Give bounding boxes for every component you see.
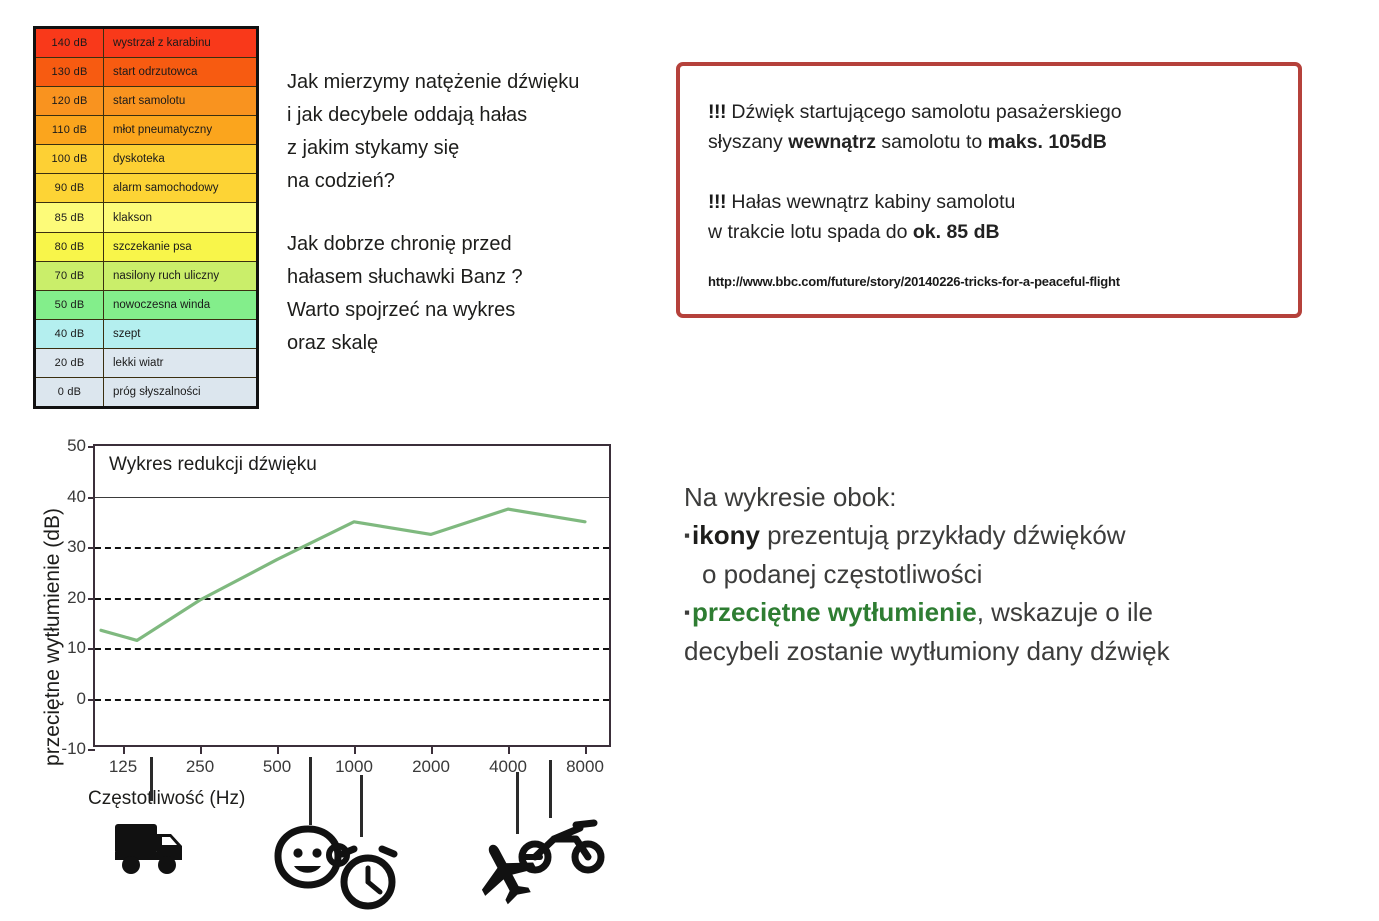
y-tick-mark <box>88 497 95 499</box>
info-block1-line1: !!! Dźwięk startującego samolotu pasażer… <box>708 97 1298 127</box>
info-bold-wewnatrz: wewnątrz <box>788 131 876 153</box>
info-text: samolotu to <box>876 131 988 153</box>
db-table-row: 140 dBwystrzał z karabinu <box>36 29 256 58</box>
y-tick-label: 0 <box>77 689 86 709</box>
info-block2-line1: !!! Hałas wewnątrz kabiny samolotu <box>708 187 1298 217</box>
db-table-row: 85 dBklakson <box>36 203 256 232</box>
intro-line: i jak decybele oddają hałas <box>287 99 667 132</box>
db-level-cell: 70 dB <box>36 262 104 290</box>
bullet-icon: ▪ <box>684 603 690 622</box>
exclamation-marks: !!! <box>708 101 726 123</box>
legend-heading: Na wykresie obok: <box>684 478 1324 516</box>
db-table-row: 40 dBszept <box>36 320 256 349</box>
intro-line: Warto spojrzeć na wykres <box>287 294 667 327</box>
db-level-cell: 40 dB <box>36 320 104 348</box>
series-line <box>95 446 613 749</box>
y-tick-mark <box>88 699 95 701</box>
db-level-cell: 85 dB <box>36 203 104 231</box>
x-tick-label: 1000 <box>335 757 373 777</box>
x-tick-label: 4000 <box>489 757 527 777</box>
y-tick-mark <box>88 446 95 448</box>
db-description-cell: młot pneumatyczny <box>104 116 256 144</box>
db-description-cell: próg słyszalności <box>104 378 256 406</box>
db-level-cell: 50 dB <box>36 291 104 319</box>
intro-line: na codzień? <box>287 165 667 198</box>
db-level-cell: 140 dB <box>36 29 104 57</box>
y-tick-label: 30 <box>67 537 86 557</box>
db-description-cell: klakson <box>104 203 256 231</box>
db-description-cell: alarm samochodowy <box>104 174 256 202</box>
db-description-cell: nasilony ruch uliczny <box>104 262 256 290</box>
info-text: słyszany <box>708 131 788 153</box>
db-level-cell: 130 dB <box>36 58 104 86</box>
db-level-cell: 20 dB <box>36 349 104 377</box>
legend-text: , wskazuje o ile <box>977 597 1153 627</box>
db-description-cell: szczekanie psa <box>104 233 256 261</box>
leader-line-baby <box>309 757 312 825</box>
legend-item-2-line2: decybeli zostanie wytłumiony dany dźwięk <box>684 632 1324 670</box>
x-tick-label: 2000 <box>412 757 450 777</box>
intro-paragraph-1: Jak mierzymy natężenie dźwięku i jak dec… <box>287 66 667 198</box>
intro-paragraph-2: Jak dobrze chronię przed hałasem słuchaw… <box>287 228 667 360</box>
intro-line: Jak mierzymy natężenie dźwięku <box>287 66 667 99</box>
db-table-row: 50 dBnowoczesna winda <box>36 291 256 320</box>
chart-explanation-block: Na wykresie obok: ▪ikony prezentują przy… <box>684 478 1324 670</box>
db-table-row: 0 dBpróg słyszalności <box>36 378 256 406</box>
leader-line-truck <box>150 757 153 801</box>
legend-item-2-line1: ▪przeciętne wytłumienie, wskazuje o ile <box>684 593 1324 632</box>
info-block2-line2: w trakcie lotu spada do ok. 85 dB <box>708 217 1298 247</box>
info-callout-box: !!! Dźwięk startującego samolotu pasażer… <box>676 62 1302 318</box>
db-level-cell: 100 dB <box>36 145 104 173</box>
y-tick-mark <box>88 598 95 600</box>
db-description-cell: szept <box>104 320 256 348</box>
plot-area: Wykres redukcji dźwięku -1001020304050 1… <box>93 444 611 747</box>
db-level-cell: 120 dB <box>36 87 104 115</box>
bullet-icon: ▪ <box>684 526 690 545</box>
db-table-row: 100 dBdyskoteka <box>36 145 256 174</box>
y-tick-mark <box>88 749 95 751</box>
db-description-cell: start samolotu <box>104 87 256 115</box>
source-url[interactable]: http://www.bbc.com/future/story/20140226… <box>708 274 1298 289</box>
info-text: w trakcie lotu spada do <box>708 221 913 243</box>
legend-item-1-line2: o podanej częstotliwości <box>684 555 1324 593</box>
db-table-row: 20 dBlekki wiatr <box>36 349 256 378</box>
db-table-row: 80 dBszczekanie psa <box>36 233 256 262</box>
db-scale-table: 140 dBwystrzał z karabinu130 dBstart odr… <box>33 26 259 409</box>
info-text: Dźwięk startującego samolotu pasażerskie… <box>726 101 1122 123</box>
x-tick-label: 8000 <box>566 757 604 777</box>
x-tick-label: 500 <box>263 757 291 777</box>
y-tick-mark <box>88 648 95 650</box>
db-level-cell: 80 dB <box>36 233 104 261</box>
db-table-row: 90 dBalarm samochodowy <box>36 174 256 203</box>
info-bold-max105db: maks. 105dB <box>988 131 1107 153</box>
intro-line: oraz skalę <box>287 327 667 360</box>
db-table-row: 120 dBstart samolotu <box>36 87 256 116</box>
intro-text-block: Jak mierzymy natężenie dźwięku i jak dec… <box>287 66 667 360</box>
leader-line-clock <box>360 775 363 837</box>
db-table-row: 110 dBmłot pneumatyczny <box>36 116 256 145</box>
intro-line: hałasem słuchawki Banz ? <box>287 261 667 294</box>
info-text: Hałas wewnątrz kabiny samolotu <box>726 191 1015 213</box>
db-description-cell: lekki wiatr <box>104 349 256 377</box>
alarm-clock-icon <box>330 837 406 913</box>
x-tick-label: 250 <box>186 757 214 777</box>
motorcycle-icon <box>518 815 606 875</box>
db-level-cell: 90 dB <box>36 174 104 202</box>
y-tick-label: 40 <box>67 487 86 507</box>
legend-green-przecietne-wytlumienie: przeciętne wytłumienie <box>692 597 977 627</box>
intro-line: z jakim stykamy się <box>287 132 667 165</box>
y-tick-mark <box>88 547 95 549</box>
db-level-cell: 0 dB <box>36 378 104 406</box>
info-block1-line2: słyszany wewnątrz samolotu to maks. 105d… <box>708 127 1298 157</box>
db-description-cell: wystrzał z karabinu <box>104 29 256 57</box>
db-description-cell: nowoczesna winda <box>104 291 256 319</box>
legend-bold-ikony: ikony <box>692 520 760 550</box>
y-tick-label: 10 <box>67 638 86 658</box>
leader-line-motorcycle <box>549 760 552 818</box>
db-description-cell: start odrzutowca <box>104 58 256 86</box>
legend-item-1-line1: ▪ikony prezentują przykłady dźwięków <box>684 516 1324 555</box>
exclamation-marks: !!! <box>708 191 726 213</box>
truck-icon <box>113 818 191 878</box>
intro-line: Jak dobrze chronię przed <box>287 228 667 261</box>
db-level-cell: 110 dB <box>36 116 104 144</box>
db-description-cell: dyskoteka <box>104 145 256 173</box>
x-axis-title: Częstotliwość (Hz) <box>88 788 245 810</box>
legend-text: prezentują przykłady dźwięków <box>760 520 1126 550</box>
y-tick-label: 20 <box>67 588 86 608</box>
db-table-row: 70 dBnasilony ruch uliczny <box>36 262 256 291</box>
info-bold-ok85db: ok. 85 dB <box>913 221 1000 243</box>
db-table-row: 130 dBstart odrzutowca <box>36 58 256 87</box>
sound-reduction-chart: przeciętne wytłumienie (dB) Wykres reduk… <box>0 420 660 921</box>
y-tick-label: -10 <box>61 739 86 759</box>
x-tick-label: 125 <box>109 757 137 777</box>
y-tick-label: 50 <box>67 436 86 456</box>
